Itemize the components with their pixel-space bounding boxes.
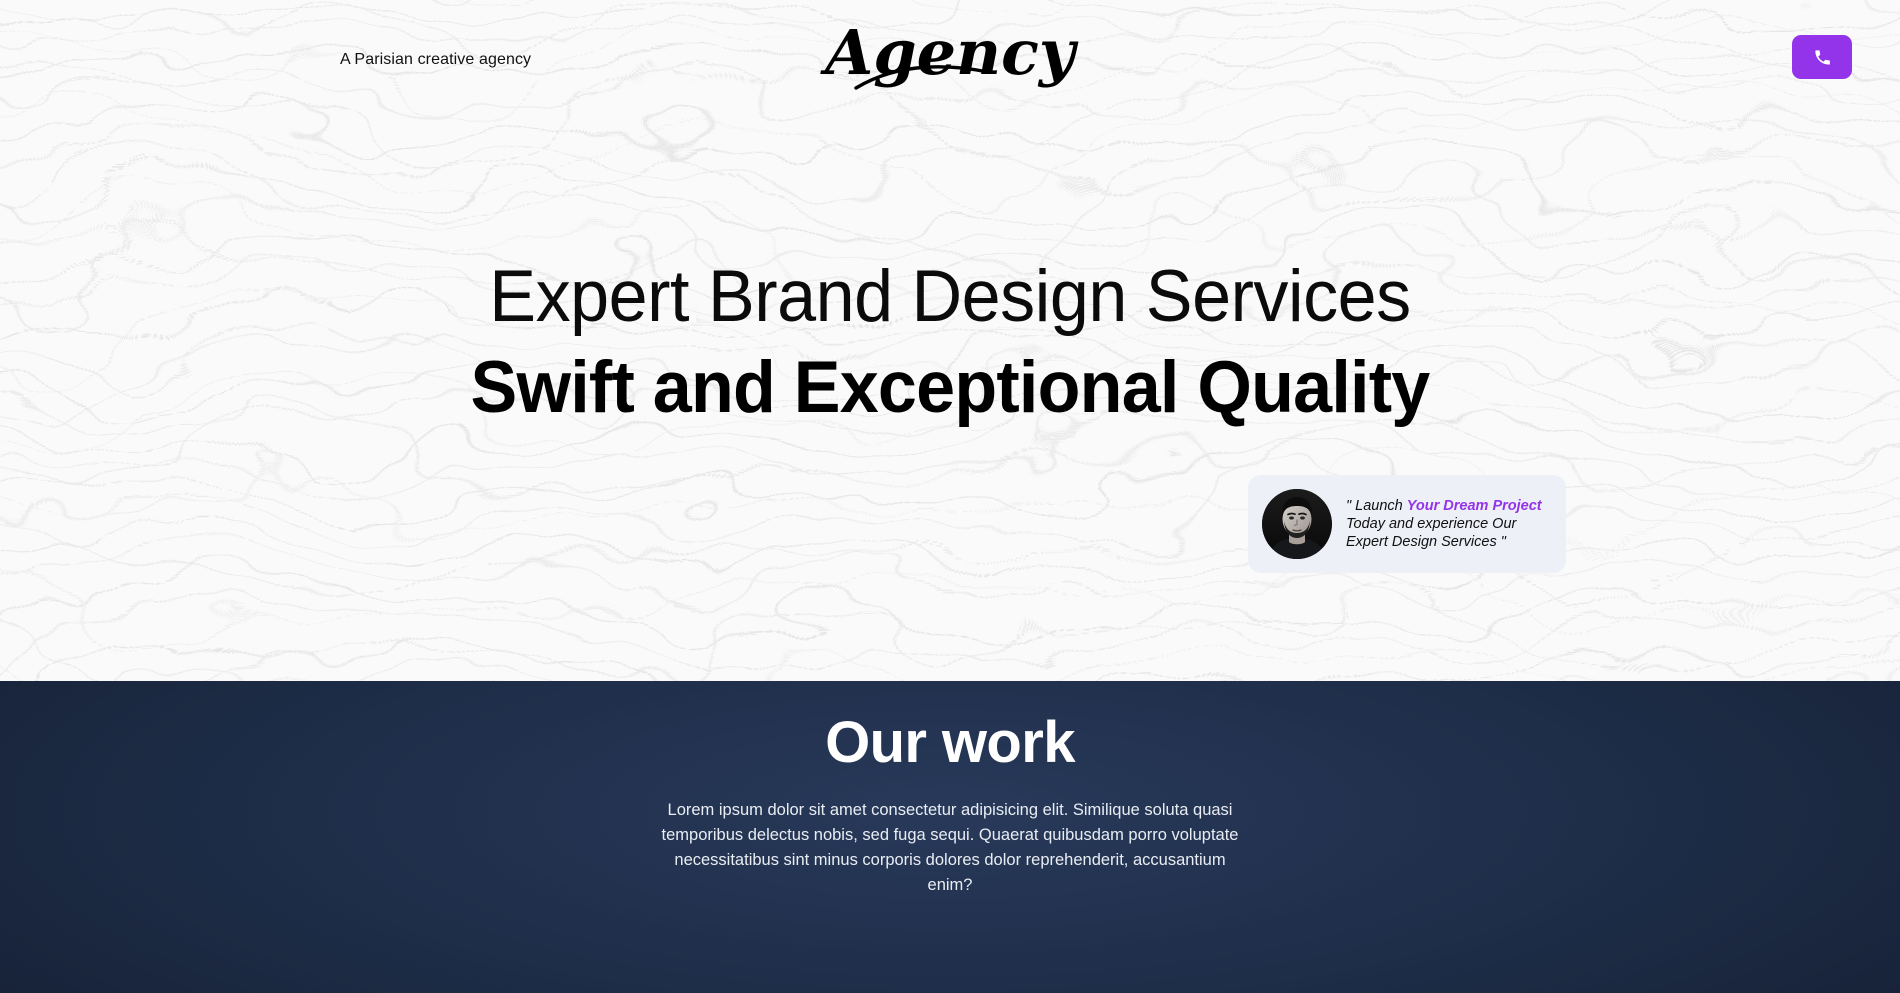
- quote-open-text: " Launch: [1346, 498, 1407, 514]
- avatar: [1262, 489, 1332, 559]
- agency-logo[interactable]: Agency: [800, 8, 1100, 108]
- hero-headline-line-2: Swift and Exceptional Quality: [38, 351, 1862, 424]
- call-button[interactable]: [1792, 35, 1852, 79]
- phone-icon: [1813, 48, 1832, 67]
- landing-page: A Parisian creative agency Agency Expert…: [0, 0, 1900, 993]
- hero-copy: Expert Brand Design Services Swift and E…: [0, 260, 1900, 424]
- site-header: A Parisian creative agency Agency: [0, 0, 1900, 120]
- our-work-paragraph: Lorem ipsum dolor sit amet consectetur a…: [650, 798, 1250, 898]
- agency-logo-text: Agency: [820, 16, 1079, 89]
- hero-section: A Parisian creative agency Agency Expert…: [0, 0, 1900, 681]
- hero-headline-line-1: Expert Brand Design Services: [38, 260, 1862, 333]
- user-portrait-photo-icon: [1262, 489, 1332, 559]
- quote-rest-text: Today and experience Our Expert Design S…: [1346, 516, 1516, 550]
- testimonial-card[interactable]: " Launch Your Dream Project Today and ex…: [1248, 475, 1566, 573]
- testimonial-quote: " Launch Your Dream Project Today and ex…: [1346, 497, 1550, 552]
- header-tagline: A Parisian creative agency: [340, 51, 531, 69]
- quote-accent-text: Your Dream Project: [1407, 498, 1542, 514]
- our-work-title: Our work: [0, 713, 1900, 774]
- our-work-section: Our work Lorem ipsum dolor sit amet cons…: [0, 681, 1900, 993]
